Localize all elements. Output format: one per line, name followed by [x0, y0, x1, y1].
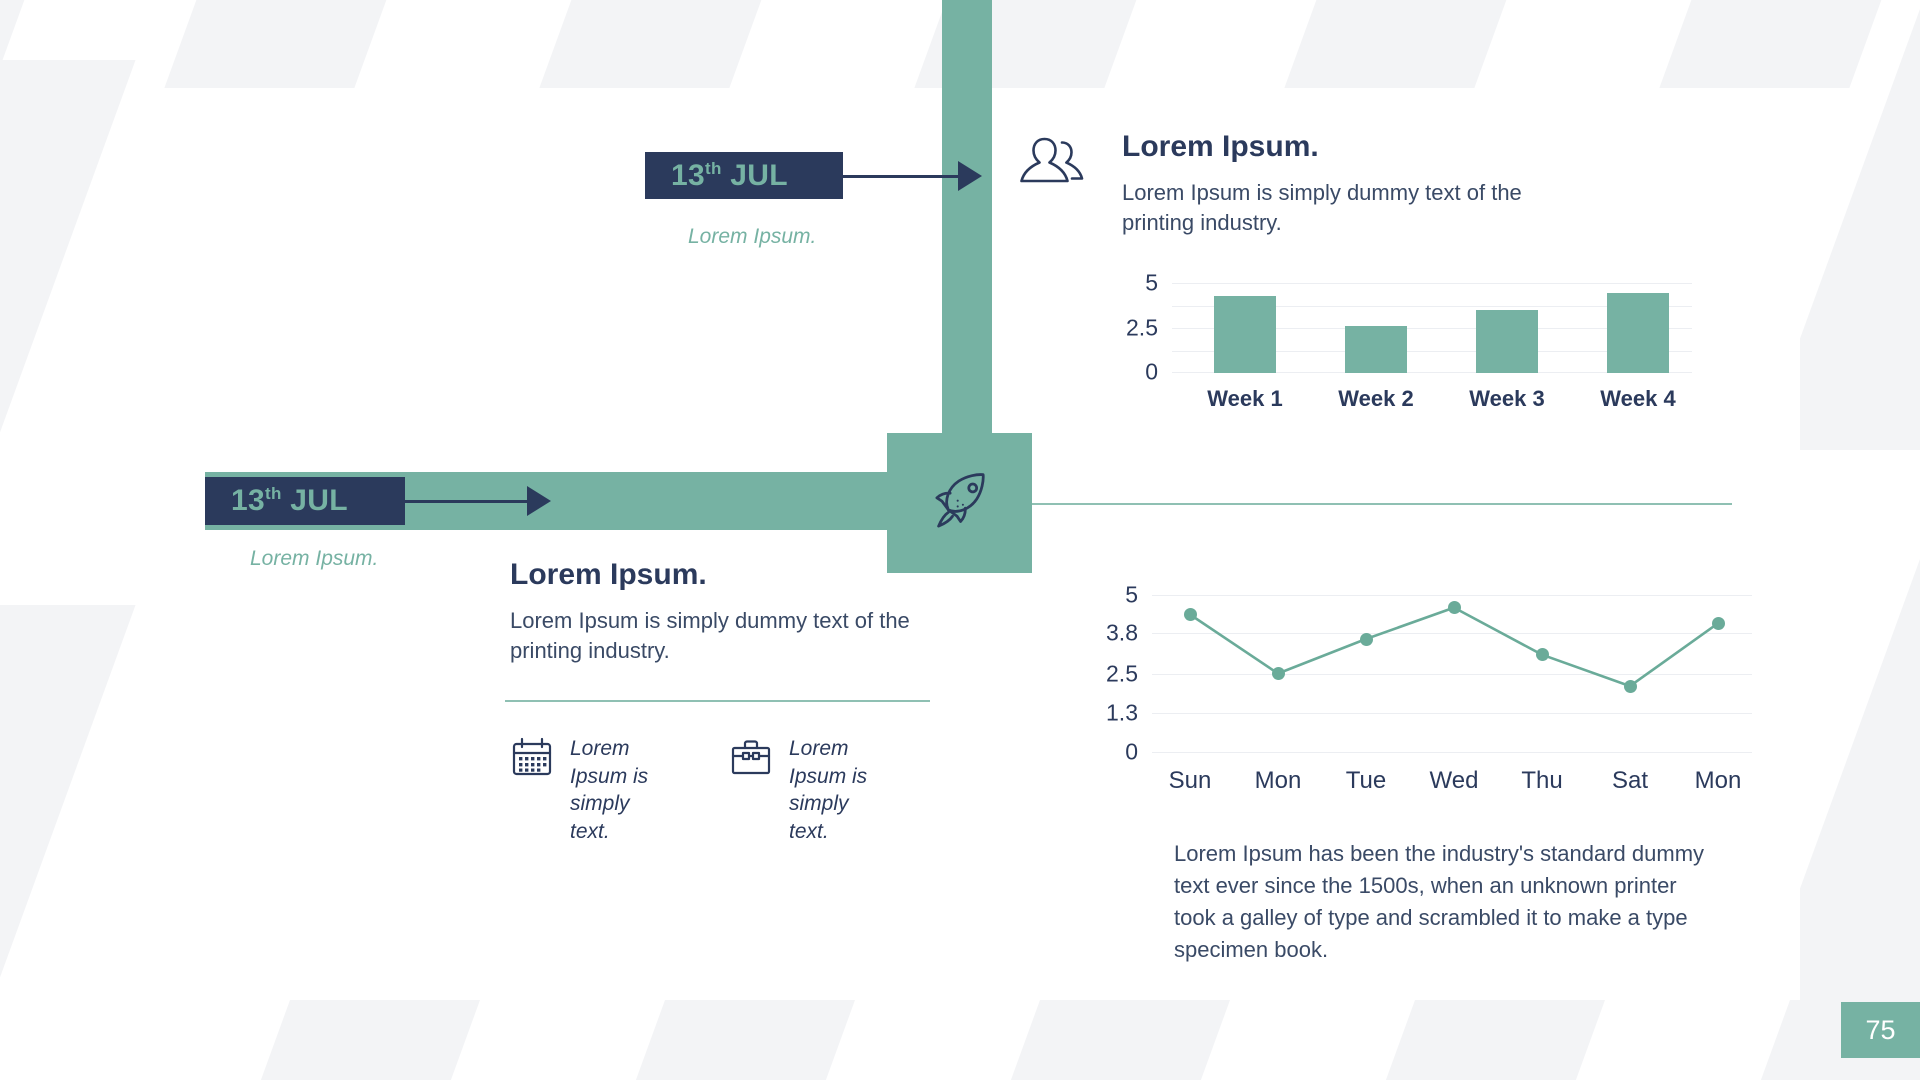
line-chart-series — [1152, 595, 1752, 753]
bar-ytick: 5 — [1145, 270, 1158, 297]
date-chip-bottom-caption: Lorem Ipsum. — [250, 547, 378, 571]
stripe — [0, 0, 28, 88]
data-point — [1360, 633, 1373, 646]
bar-xlabel: Week 1 — [1207, 386, 1282, 412]
feature-row: Lorem Ipsum is simply text. Lorem Ipsum … — [510, 735, 894, 846]
stripe — [250, 1000, 480, 1080]
top-block-title: Lorem Ipsum. — [1122, 130, 1592, 164]
bar-ytick: 0 — [1145, 359, 1158, 386]
timeline-vertical-track — [942, 0, 992, 440]
gridline — [1172, 283, 1692, 284]
feature-label: Lorem Ipsum is simply text. — [570, 735, 675, 846]
stripe — [1000, 1000, 1230, 1080]
stripe — [160, 0, 390, 88]
feature-item-briefcase[interactable]: Lorem Ipsum is simply text. — [729, 735, 894, 846]
bar-xlabel: Week 2 — [1338, 386, 1413, 412]
people-icon — [1020, 133, 1094, 201]
bottom-block-body: Lorem Ipsum is simply dummy text of the … — [510, 606, 930, 667]
data-point — [1536, 648, 1549, 661]
background-stripes-left — [0, 60, 260, 1080]
line-xlabel: Mon — [1695, 767, 1742, 795]
bottom-right-caption: Lorem Ipsum has been the industry's stan… — [1174, 838, 1714, 966]
data-point — [1448, 601, 1461, 614]
timeline-thin-rule — [1032, 503, 1732, 505]
data-point — [1712, 617, 1725, 630]
date-chip-top[interactable]: 13th JUL — [645, 152, 843, 199]
arrow-line — [405, 500, 532, 503]
feature-label: Lorem Ipsum is simply text. — [789, 735, 894, 846]
stripe — [1655, 0, 1885, 88]
stripe — [1280, 0, 1510, 88]
line-xlabel: Thu — [1521, 767, 1562, 795]
stripe — [1800, 0, 1920, 450]
arrow-head — [527, 486, 551, 516]
bar — [1607, 293, 1669, 373]
arrow-head — [958, 161, 982, 191]
top-content-block: Lorem Ipsum. Lorem Ipsum is simply dummy… — [1122, 130, 1592, 239]
top-block-body: Lorem Ipsum is simply dummy text of the … — [1122, 178, 1592, 239]
line-ytick: 0 — [1125, 739, 1138, 766]
date-chip-top-label: 13th JUL — [671, 159, 788, 193]
bar — [1476, 310, 1538, 373]
line-ytick: 5 — [1125, 582, 1138, 609]
slide-canvas: 13th JUL Lorem Ipsum. Lorem Ipsum. Lorem… — [0, 0, 1920, 1080]
stripe — [0, 60, 136, 530]
calendar-icon — [510, 735, 554, 779]
line-xlabel: Sun — [1169, 767, 1212, 795]
feature-item-calendar[interactable]: Lorem Ipsum is simply text. — [510, 735, 675, 846]
arrow-line — [843, 175, 963, 178]
rocket-icon — [923, 466, 997, 540]
page-number-badge: 75 — [1841, 1002, 1920, 1058]
page-number-label: 75 — [1865, 1015, 1895, 1046]
background-stripes-right — [1800, 0, 1920, 1080]
background-stripes-bottom — [0, 1000, 1920, 1080]
stripe — [0, 605, 136, 1075]
data-point — [1624, 680, 1637, 693]
bar — [1345, 326, 1407, 373]
stripe — [1800, 530, 1920, 1000]
data-point — [1272, 667, 1285, 680]
line-chart: 5 3.8 2.5 1.3 0 Sun Mon Tue Wed Thu Sat … — [1152, 595, 1752, 795]
people-icon-wrap — [1020, 133, 1094, 206]
stripe — [625, 1000, 855, 1080]
bar-xlabel: Week 3 — [1469, 386, 1544, 412]
stripe — [1375, 1000, 1605, 1080]
bar-xlabel: Week 4 — [1600, 386, 1675, 412]
line-chart-plot: 5 3.8 2.5 1.3 0 — [1152, 595, 1752, 753]
line-xlabel: Tue — [1346, 767, 1386, 795]
date-chip-top-caption: Lorem Ipsum. — [688, 225, 816, 249]
line-xlabel: Mon — [1255, 767, 1302, 795]
rocket-milestone-box — [887, 433, 1032, 573]
bar-chart: 5 2.5 0 Week 1 Week 2 Week 3 Week 4 — [1172, 283, 1692, 413]
bottom-block-title: Lorem Ipsum. — [510, 558, 930, 592]
bar-chart-plot: 5 2.5 0 — [1172, 283, 1692, 373]
briefcase-icon — [729, 735, 773, 779]
line-xlabel: Sat — [1612, 767, 1648, 795]
date-chip-bottom[interactable]: 13th JUL — [205, 477, 405, 525]
line-ytick: 2.5 — [1106, 661, 1138, 688]
line-ytick: 1.3 — [1106, 700, 1138, 727]
bottom-content-block: Lorem Ipsum. Lorem Ipsum is simply dummy… — [510, 558, 930, 667]
data-point — [1184, 608, 1197, 621]
bar — [1214, 296, 1276, 373]
arrow-top — [843, 160, 988, 192]
line-ytick: 3.8 — [1106, 620, 1138, 647]
arrow-bottom — [405, 485, 575, 517]
date-chip-bottom-label: 13th JUL — [231, 484, 348, 518]
line-xlabel: Wed — [1430, 767, 1479, 795]
stripe — [535, 0, 765, 88]
bottom-block-divider — [505, 700, 930, 702]
bar-ytick: 2.5 — [1126, 315, 1158, 342]
